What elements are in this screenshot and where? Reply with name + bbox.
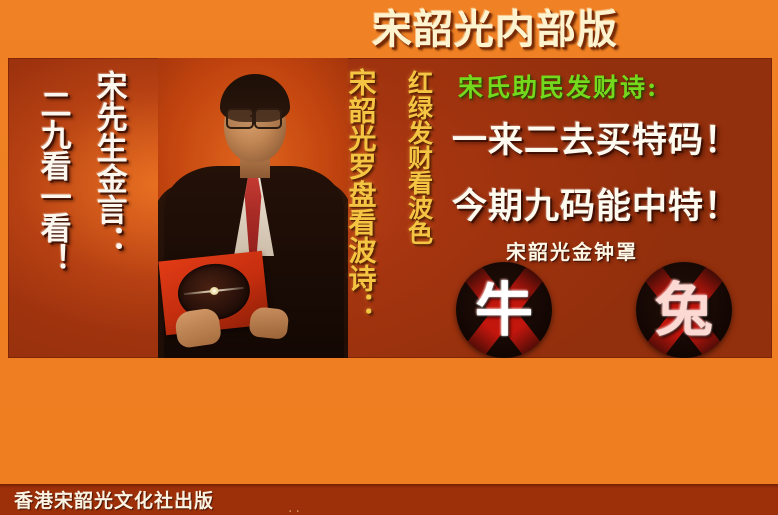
zodiac-badge-ox[interactable]: 牛 <box>456 262 552 358</box>
poem-line-2: 今期九码能中特！ <box>452 178 740 229</box>
portrait-photo <box>158 58 348 358</box>
zodiac-badge-ox-label: 牛 <box>456 262 552 358</box>
footer-dots: .. <box>288 500 303 515</box>
poem-line-1: 一来二去买特码！ <box>452 112 740 163</box>
publisher-label: 香港宋韶光文化社出版 <box>14 488 214 515</box>
right-content-column: 宋氏助民发财诗: 一来二去买特码！ 今期九码能中特！ 宋韶光金钟罩 牛 兔 <box>446 58 772 358</box>
colors-vertical-label: 红绿发财看波色 <box>406 70 432 245</box>
hand-left <box>174 307 223 349</box>
title-area: 宋韶光内部版 <box>0 0 778 58</box>
eyeglass-bridge <box>250 115 256 117</box>
eyeglass-lens-right <box>254 108 282 129</box>
footer-bar: 香港宋韶光文化社出版 .. <box>0 484 778 515</box>
saying-vertical-label: 宋先生金言： <box>92 70 124 256</box>
luopan-poem-vertical-label: 宋韶光罗盘看波诗： <box>346 68 375 320</box>
zodiac-badge-rabbit-label: 兔 <box>636 262 732 358</box>
sub-caption: 宋韶光金钟罩 <box>506 236 638 265</box>
numbers-vertical-label: 二九看一看！ <box>36 88 68 274</box>
poster-page: 宋韶光内部版 宋先生金言： 二九看一看！ <box>0 0 778 515</box>
poem-heading: 宋氏助民发财诗: <box>458 68 658 104</box>
zodiac-badge-rabbit[interactable]: 兔 <box>636 262 732 358</box>
eyeglass-lens-left <box>226 108 254 129</box>
page-title: 宋韶光内部版 <box>372 4 702 56</box>
hand-right <box>249 306 290 340</box>
main-banner: 宋先生金言： 二九看一看！ 宋韶光罗盘看波诗： 红 <box>8 58 772 358</box>
